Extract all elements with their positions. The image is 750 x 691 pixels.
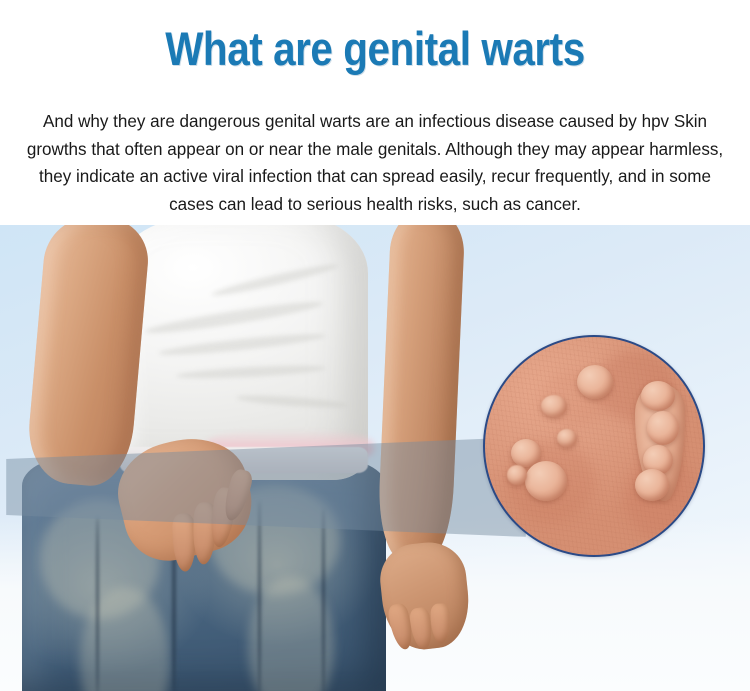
wart — [635, 469, 669, 501]
wart — [507, 465, 527, 485]
photo-area: Human papillomavirus (HPV) Virus causes … — [0, 225, 750, 691]
magnified-skin-circle — [483, 335, 705, 557]
intro-paragraph: And why they are dangerous genital warts… — [20, 108, 730, 218]
infographic-page: What are genital warts And why they are … — [0, 0, 750, 691]
header-block: What are genital warts And why they are … — [0, 0, 750, 225]
wart — [641, 381, 675, 411]
intro-line-1: And why they are dangerous genital warts… — [43, 111, 669, 131]
wart — [541, 395, 567, 417]
page-title: What are genital warts — [53, 22, 698, 76]
wart — [557, 429, 577, 447]
wart — [647, 411, 679, 445]
wart — [577, 365, 613, 399]
wart — [525, 461, 567, 501]
